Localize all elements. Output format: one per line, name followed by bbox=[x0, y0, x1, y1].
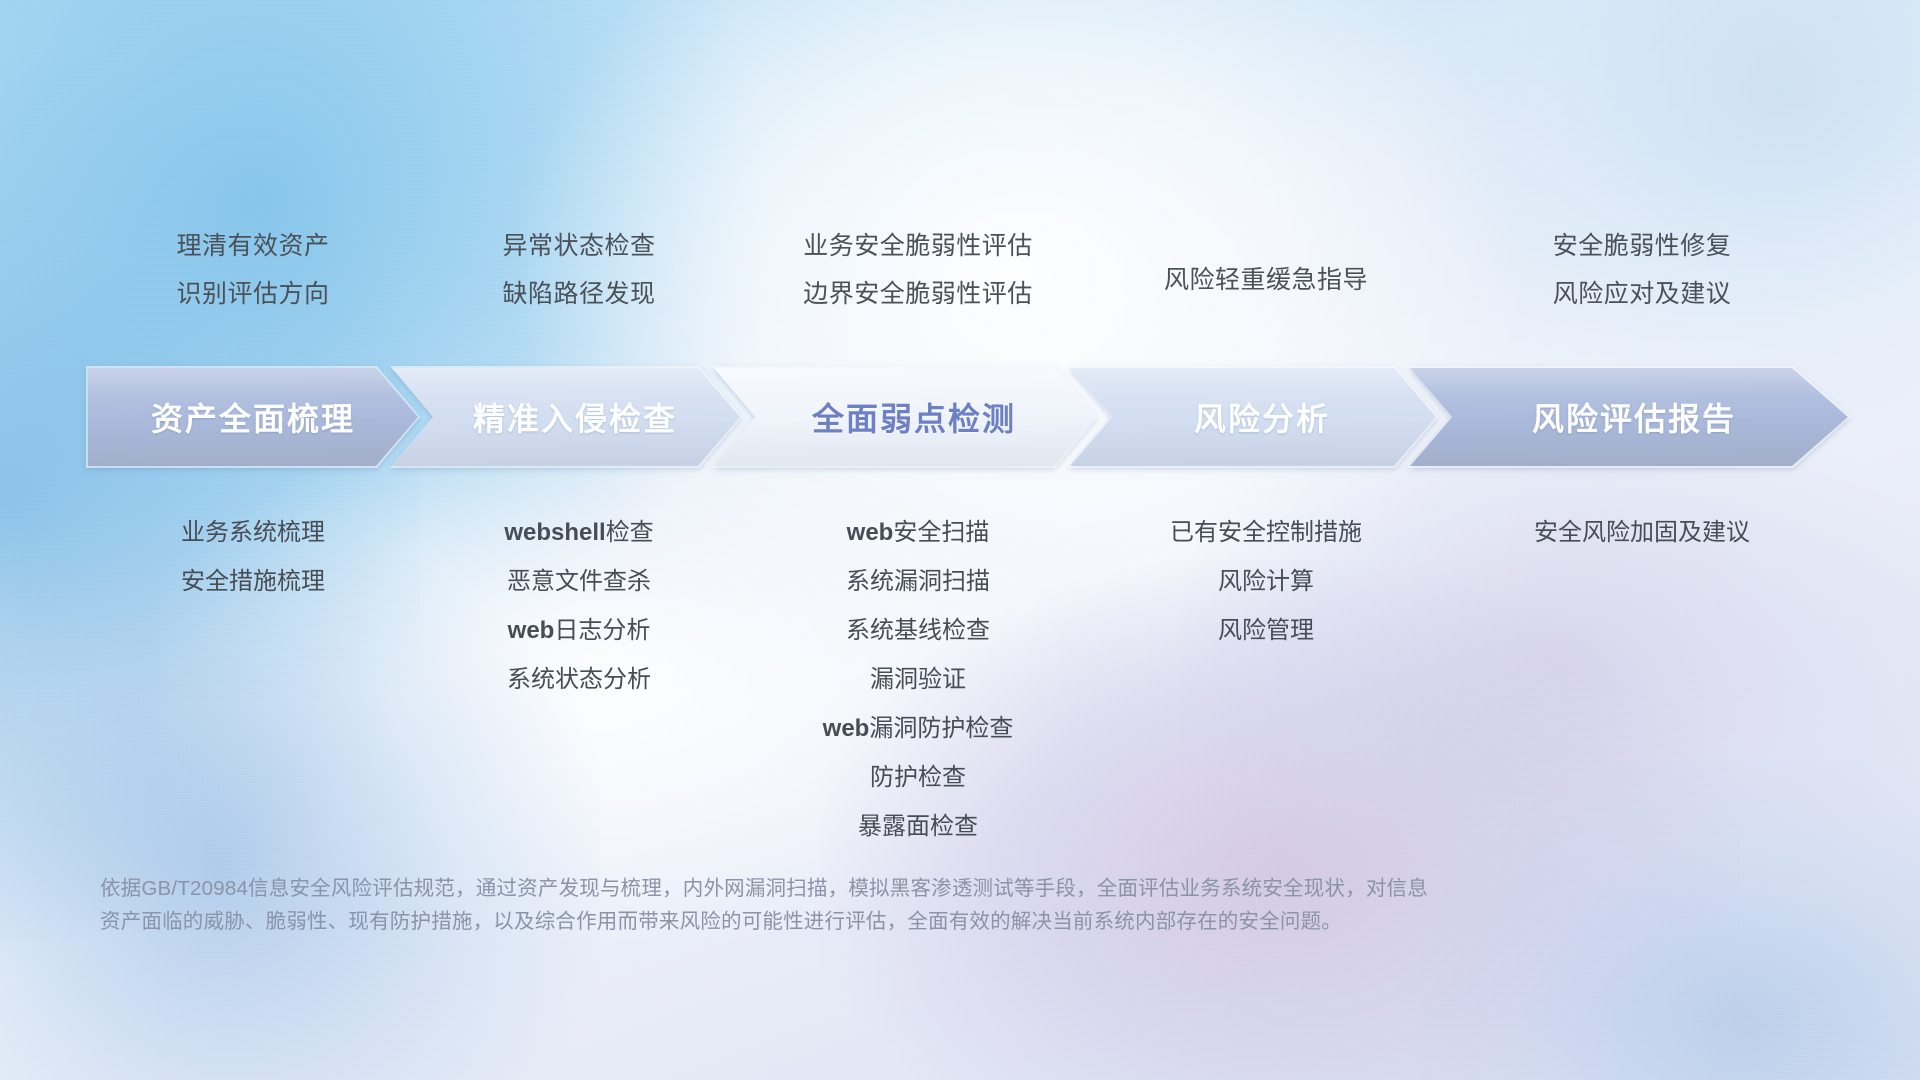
footer-line-1: 依据GB/T20984信息安全风险评估规范，通过资产发现与梳理，内外网漏洞扫描，… bbox=[100, 872, 1600, 905]
stage-chevron-asset-inventory[interactable]: 资产全面梳理 bbox=[88, 368, 418, 466]
bottom-list-item: web日志分析 bbox=[418, 606, 740, 655]
stage-banner: 资产全面梳理精准入侵检查全面弱点检测风险分析风险评估报告 bbox=[88, 368, 1848, 466]
bottom-list-item: web安全扫描 bbox=[740, 508, 1096, 557]
stage-title: 风险分析 bbox=[1194, 394, 1330, 440]
top-labels-asset-inventory: 理清有效资产识别评估方向 bbox=[88, 222, 418, 318]
top-label: 安全脆弱性修复 bbox=[1436, 222, 1848, 270]
stage-title: 资产全面梳理 bbox=[151, 394, 355, 440]
item-text: 检查 bbox=[606, 519, 654, 546]
item-bold-prefix: web bbox=[823, 715, 870, 742]
top-label: 缺陷路径发现 bbox=[418, 270, 740, 318]
bottom-list-item: 暴露面检查 bbox=[740, 802, 1096, 851]
top-label: 理清有效资产 bbox=[88, 222, 418, 270]
top-label: 异常状态检查 bbox=[418, 222, 740, 270]
top-label: 识别评估方向 bbox=[88, 270, 418, 318]
bottom-list-item: 已有安全控制措施 bbox=[1096, 508, 1436, 557]
top-labels-weakness-detection: 业务安全脆弱性评估边界安全脆弱性评估 bbox=[740, 222, 1096, 318]
stage-chevron-weakness-detection[interactable]: 全面弱点检测 bbox=[714, 368, 1096, 466]
item-bold-prefix: web bbox=[847, 519, 894, 546]
bottom-list-item: 防护检查 bbox=[740, 753, 1096, 802]
footer-description: 依据GB/T20984信息安全风险评估规范，通过资产发现与梳理，内外网漏洞扫描，… bbox=[100, 872, 1600, 938]
top-label: 风险应对及建议 bbox=[1436, 270, 1848, 318]
top-labels-risk-analysis: 风险轻重缓急指导 bbox=[1096, 256, 1436, 318]
bottom-list-item: 系统漏洞扫描 bbox=[740, 557, 1096, 606]
stage-chevron-intrusion-check[interactable]: 精准入侵检查 bbox=[392, 368, 740, 466]
bottom-list-item: webshell检查 bbox=[418, 508, 740, 557]
bottom-list-item: 系统状态分析 bbox=[418, 655, 740, 704]
bottom-list-item: 风险计算 bbox=[1096, 557, 1436, 606]
footer-line-2: 资产面临的威胁、脆弱性、现有防护措施，以及综合作用而带来风险的可能性进行评估，全… bbox=[100, 905, 1600, 938]
stage-title: 风险评估报告 bbox=[1532, 394, 1736, 440]
item-text: 漏洞防护检查 bbox=[869, 715, 1013, 742]
bottom-list-item: 恶意文件查杀 bbox=[418, 557, 740, 606]
bottom-lists-row: 业务系统梳理安全措施梳理webshell检查恶意文件查杀web日志分析系统状态分… bbox=[88, 508, 1920, 851]
bottom-list-item: web漏洞防护检查 bbox=[740, 704, 1096, 753]
item-text: 安全扫描 bbox=[893, 519, 989, 546]
stage-chevron-risk-report[interactable]: 风险评估报告 bbox=[1410, 368, 1848, 466]
item-bold-prefix: webshell bbox=[504, 519, 605, 546]
bottom-list-item: 安全风险加固及建议 bbox=[1436, 508, 1848, 557]
bottom-list-item: 安全措施梳理 bbox=[88, 557, 418, 606]
top-labels-intrusion-check: 异常状态检查缺陷路径发现 bbox=[418, 222, 740, 318]
item-bold-prefix: web bbox=[508, 617, 555, 644]
stage-title: 全面弱点检测 bbox=[812, 394, 1016, 440]
stage-title: 精准入侵检查 bbox=[473, 394, 677, 440]
bottom-list-item: 业务系统梳理 bbox=[88, 508, 418, 557]
bottom-list-item: 系统基线检查 bbox=[740, 606, 1096, 655]
bottom-list-item: 漏洞验证 bbox=[740, 655, 1096, 704]
top-label: 边界安全脆弱性评估 bbox=[740, 270, 1096, 318]
bottom-list-risk-analysis: 已有安全控制措施风险计算风险管理 bbox=[1096, 508, 1436, 655]
item-text: 日志分析 bbox=[554, 617, 650, 644]
top-label: 业务安全脆弱性评估 bbox=[740, 222, 1096, 270]
top-labels-risk-report: 安全脆弱性修复风险应对及建议 bbox=[1436, 222, 1848, 318]
bottom-list-item: 风险管理 bbox=[1096, 606, 1436, 655]
process-diagram: 理清有效资产识别评估方向异常状态检查缺陷路径发现业务安全脆弱性评估边界安全脆弱性… bbox=[0, 0, 1920, 1080]
bottom-list-asset-inventory: 业务系统梳理安全措施梳理 bbox=[88, 508, 418, 606]
top-label: 风险轻重缓急指导 bbox=[1096, 256, 1436, 304]
bottom-list-risk-report: 安全风险加固及建议 bbox=[1436, 508, 1848, 557]
stage-chevron-risk-analysis[interactable]: 风险分析 bbox=[1070, 368, 1436, 466]
top-labels-row: 理清有效资产识别评估方向异常状态检查缺陷路径发现业务安全脆弱性评估边界安全脆弱性… bbox=[88, 222, 1920, 318]
bottom-list-weakness-detection: web安全扫描系统漏洞扫描系统基线检查漏洞验证web漏洞防护检查防护检查暴露面检… bbox=[740, 508, 1096, 851]
bottom-list-intrusion-check: webshell检查恶意文件查杀web日志分析系统状态分析 bbox=[418, 508, 740, 704]
